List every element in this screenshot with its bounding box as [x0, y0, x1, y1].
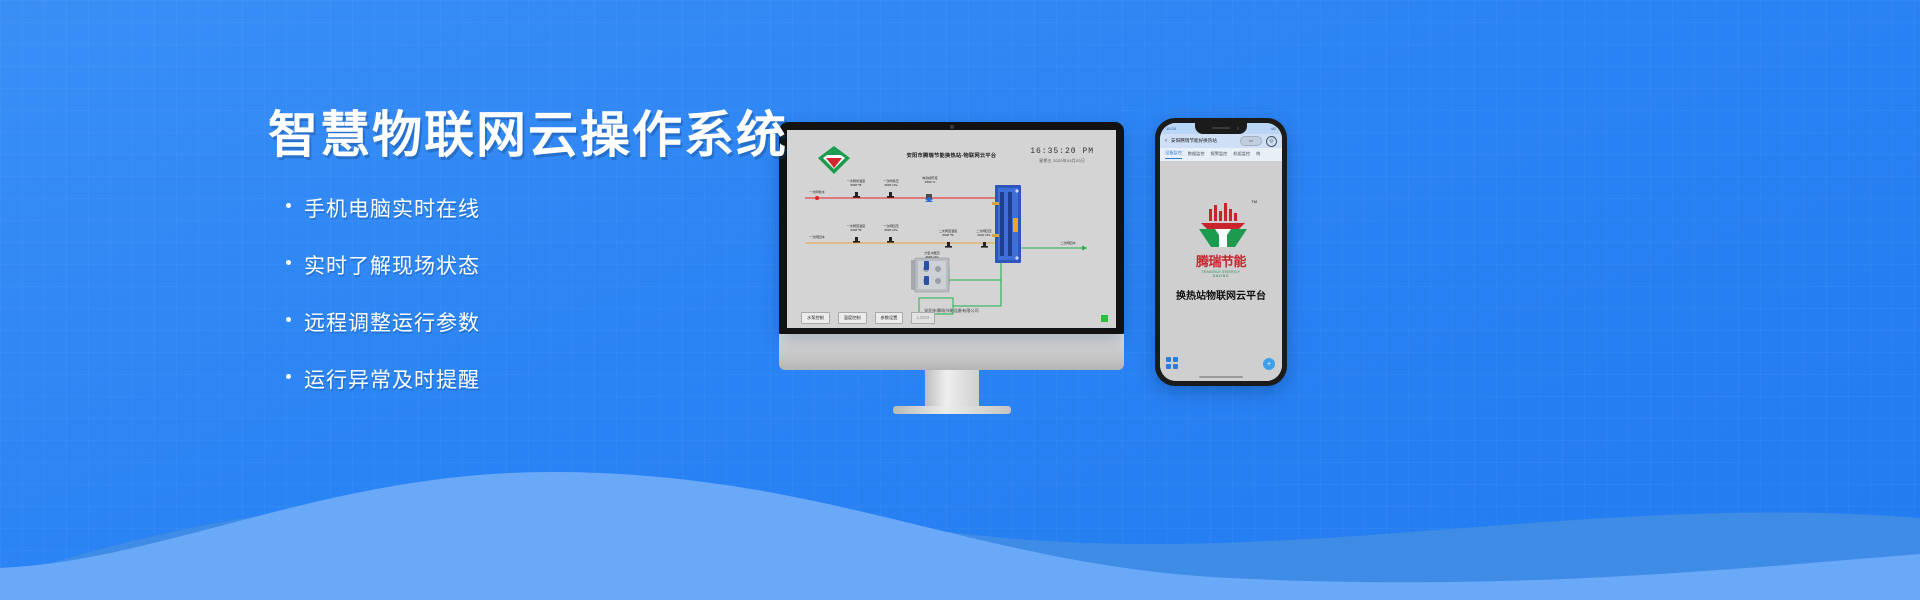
monitor-bezel: 一次网供水 一次网供温度#### ℃ 一次网供压#### kPa 电动阀开度##… — [779, 122, 1124, 334]
svg-text:#### %: #### % — [925, 180, 936, 184]
plus-icon[interactable]: + — [1263, 358, 1275, 370]
status-signal: 4G — [1271, 126, 1276, 131]
phone-content: TM — [1160, 161, 1282, 381]
pump-control-button[interactable]: 水泵控制 — [801, 312, 830, 324]
monitor-stand-foot — [893, 406, 1011, 414]
home-indicator — [1199, 376, 1243, 378]
brand-mark-icon — [1193, 203, 1253, 249]
brand-tagline: 换热站物联网云平台 — [1176, 287, 1266, 302]
speaker-icon — [1212, 127, 1230, 129]
list-item: 远程调整运行参数 — [286, 307, 788, 337]
brand-name-en: TENGRUI ENERGY SAVING — [1193, 270, 1249, 278]
status-indicator-icon — [1101, 315, 1108, 322]
front-camera-icon — [1237, 127, 1240, 130]
screen-clock: 16:35:20 PM 星期五 2020年04月03日 — [1030, 147, 1094, 164]
hero-banner: 智慧物联网云操作系统 手机电脑实时在线 实时了解现场状态 远程调整运行参数 运行… — [0, 0, 1920, 600]
page-title: 智慧物联网云操作系统 — [268, 108, 788, 163]
tab-alarm-monitor[interactable]: 报警监控 — [1211, 151, 1228, 159]
webcam-icon — [950, 125, 954, 129]
list-item: 运行异常及时提醒 — [286, 364, 788, 394]
brand-name-cn: 腾瑞节能 — [1193, 255, 1249, 268]
svg-text:二次网回水: 二次网回水 — [1060, 240, 1076, 245]
monitor-stand-neck — [925, 370, 979, 406]
svg-text:#### kPa: #### kPa — [884, 183, 897, 187]
phone-screen: 10:24 4G ‹ 安阳腾瑞节能好换热站 ••• ◎ 设备监控 数据监控 报警… — [1160, 123, 1282, 381]
svg-text:#### kPa: #### kPa — [977, 233, 990, 237]
chevron-left-icon[interactable]: ‹ — [1165, 138, 1167, 144]
temperature-control-button[interactable]: 温度控制 — [838, 312, 867, 324]
hero-copy: 智慧物联网云操作系统 手机电脑实时在线 实时了解现场状态 远程调整运行参数 运行… — [268, 108, 788, 421]
svg-text:#### ℃: #### ℃ — [942, 233, 954, 237]
svg-text:#### kPa: #### kPa — [884, 228, 897, 232]
feature-list: 手机电脑实时在线 实时了解现场状态 远程调整运行参数 运行异常及时提醒 — [286, 193, 788, 394]
list-item: 手机电脑实时在线 — [286, 193, 788, 223]
phone-nav-bar: ‹ 安阳腾瑞节能好换热站 ••• ◎ — [1160, 134, 1282, 148]
status-time: 10:24 — [1166, 126, 1176, 131]
grid-menu-icon[interactable] — [1166, 357, 1178, 369]
phone-notch — [1195, 123, 1247, 134]
tab-unit-monitor[interactable]: 机组监控 — [1233, 151, 1250, 159]
phone-mockup: 10:24 4G ‹ 安阳腾瑞节能好换热站 ••• ◎ 设备监控 数据监控 报警… — [1155, 118, 1287, 386]
svg-text:#### ℃: #### ℃ — [850, 228, 862, 232]
phone-nav-title: 安阳腾瑞节能好换热站 — [1171, 138, 1236, 144]
svg-text:一次网供水: 一次网供水 — [809, 189, 825, 194]
wave-front-decoration — [0, 450, 1920, 600]
tab-data-monitor[interactable]: 数据监控 — [1188, 151, 1205, 159]
headline-rest: 操作系统 — [580, 107, 788, 163]
parameter-settings-button[interactable]: 参数设置 — [875, 312, 904, 324]
brand-logo: TM — [1193, 203, 1249, 278]
phone-tab-bar: 设备监控 数据监控 报警监控 机组监控 统 — [1160, 148, 1282, 161]
monitor-chin — [779, 334, 1124, 370]
tab-device-monitor[interactable]: 设备监控 — [1165, 150, 1182, 159]
logo-button[interactable]: LOGO — [911, 312, 935, 324]
svg-text:一次网回水: 一次网回水 — [809, 234, 825, 239]
trademark-label: TM — [1251, 199, 1257, 204]
clock-time: 16:35:20 PM — [1030, 147, 1094, 156]
list-item: 实时了解现场状态 — [286, 250, 788, 280]
wave-back-decoration — [0, 430, 1920, 600]
more-options-button[interactable]: ••• — [1240, 136, 1262, 146]
tab-more[interactable]: 统 — [1256, 151, 1260, 159]
headline-strong: 智慧物联网云 — [268, 107, 580, 163]
monitor-screen: 一次网供水 一次网供温度#### ℃ 一次网供压#### kPa 电动阀开度##… — [787, 130, 1116, 328]
svg-text:#### kPa: #### kPa — [925, 255, 938, 259]
desktop-monitor-mockup: 一次网供水 一次网供温度#### ℃ 一次网供压#### kPa 电动阀开度##… — [779, 122, 1124, 414]
clock-date: 星期五 2020年04月03日 — [1030, 158, 1094, 164]
screen-brand-logo — [813, 144, 855, 183]
svg-text:#### ℃: #### ℃ — [850, 183, 862, 187]
screen-button-bar: 水泵控制 温度控制 参数设置 LOGO — [801, 312, 935, 324]
target-icon[interactable]: ◎ — [1266, 136, 1277, 147]
